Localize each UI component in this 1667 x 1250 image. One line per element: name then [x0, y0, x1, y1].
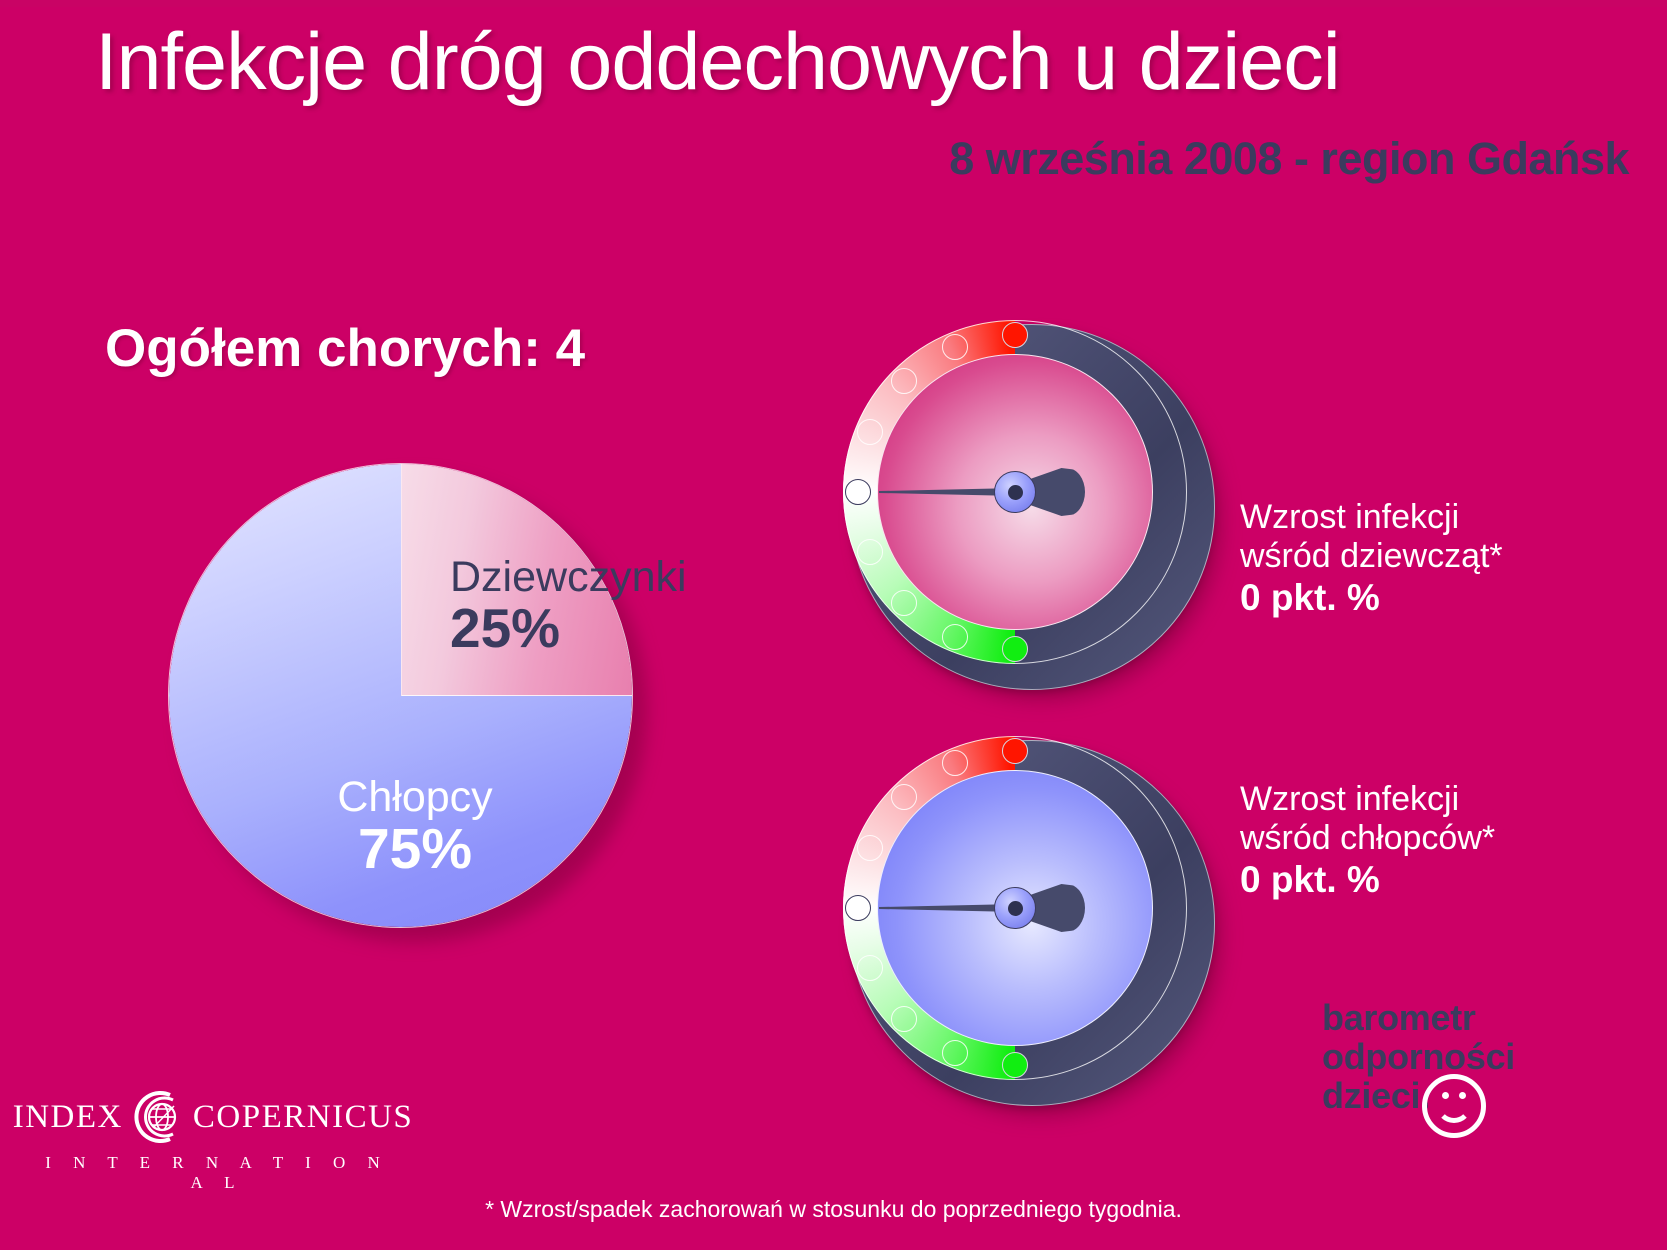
pie-label-girls-value: 25%	[450, 600, 770, 657]
gauge-boys-value: 0 pkt. %	[1240, 859, 1495, 902]
barometr-logo: barometr odporności dzieci.	[1322, 1000, 1515, 1117]
index-copernicus-subtitle: I N T E R N A T I O N A L	[28, 1153, 398, 1193]
gauge-girls	[843, 320, 1225, 702]
page-subtitle: 8 września 2008 - region Gdańsk	[949, 133, 1629, 185]
globe-icon	[129, 1088, 187, 1146]
barometr-line1: barometr	[1322, 1000, 1515, 1036]
gauge-tick-7	[942, 1040, 968, 1066]
pie-label-boys-name: Chłopcy	[220, 775, 610, 820]
gauge-tick-5	[857, 955, 883, 981]
pie-label-boys-value: 75%	[220, 820, 610, 879]
gauge-girls-caption-line2: wśród dziewcząt*	[1240, 537, 1503, 576]
index-copernicus-logo: INDEX COPERNICUS I N T E R	[28, 1088, 398, 1193]
index-copernicus-word2: COPERNICUS	[193, 1099, 413, 1136]
gauge-tick-1	[942, 750, 968, 776]
gauge-tick-2	[891, 368, 917, 394]
pie-label-girls-name: Dziewczynki	[450, 555, 770, 600]
index-copernicus-word1: INDEX	[13, 1099, 123, 1136]
needle-hub	[994, 471, 1036, 513]
gauge-tick-6	[891, 1006, 917, 1032]
gauge-tick-7	[942, 624, 968, 650]
gauge-tick-3	[857, 419, 883, 445]
barometr-line2: odporności	[1322, 1039, 1515, 1075]
barometr-line3: dzieci.	[1322, 1078, 1515, 1114]
gauge-girls-caption-line1: Wzrost infekcji	[1240, 498, 1503, 537]
gauge-tick-2	[891, 784, 917, 810]
pie-label-girls: Dziewczynki 25%	[450, 555, 770, 657]
gauge-tick-0	[1002, 322, 1028, 348]
infographic-slide: Infekcje dróg oddechowych u dzieci 8 wrz…	[0, 0, 1667, 1250]
gauge-tick-6	[891, 590, 917, 616]
gauge-tick-4	[845, 479, 871, 505]
gauge-boys	[843, 736, 1225, 1118]
gauge-tick-4	[845, 895, 871, 921]
pie-label-boys: Chłopcy 75%	[220, 775, 610, 879]
footnote: * Wzrost/spadek zachorowań w stosunku do…	[0, 1196, 1667, 1223]
gauge-girls-caption: Wzrost infekcji wśród dziewcząt* 0 pkt. …	[1240, 498, 1503, 620]
index-copernicus-row: INDEX COPERNICUS	[28, 1088, 398, 1146]
gauge-tick-5	[857, 539, 883, 565]
gauge-boys-caption-line1: Wzrost infekcji	[1240, 780, 1495, 819]
gauge-tick-3	[857, 835, 883, 861]
gauge-tick-1	[942, 334, 968, 360]
gender-pie-chart: Dziewczynki 25% Chłopcy 75%	[160, 455, 730, 965]
top-edge-band	[0, 0, 1667, 7]
page-title: Infekcje dróg oddechowych u dzieci	[95, 22, 1340, 103]
smiley-face-icon	[1422, 1074, 1486, 1138]
gauge-tick-8	[1002, 1052, 1028, 1078]
gauge-boys-caption: Wzrost infekcji wśród chłopców* 0 pkt. %	[1240, 780, 1495, 902]
gauge-tick-0	[1002, 738, 1028, 764]
smiley-mouth	[1436, 1097, 1472, 1123]
gauge-girls-value: 0 pkt. %	[1240, 577, 1503, 620]
gauge-tick-8	[1002, 636, 1028, 662]
total-sick-label: Ogółem chorych: 4	[105, 318, 585, 379]
needle-hub	[994, 887, 1036, 929]
gauge-boys-caption-line2: wśród chłopców*	[1240, 819, 1495, 858]
